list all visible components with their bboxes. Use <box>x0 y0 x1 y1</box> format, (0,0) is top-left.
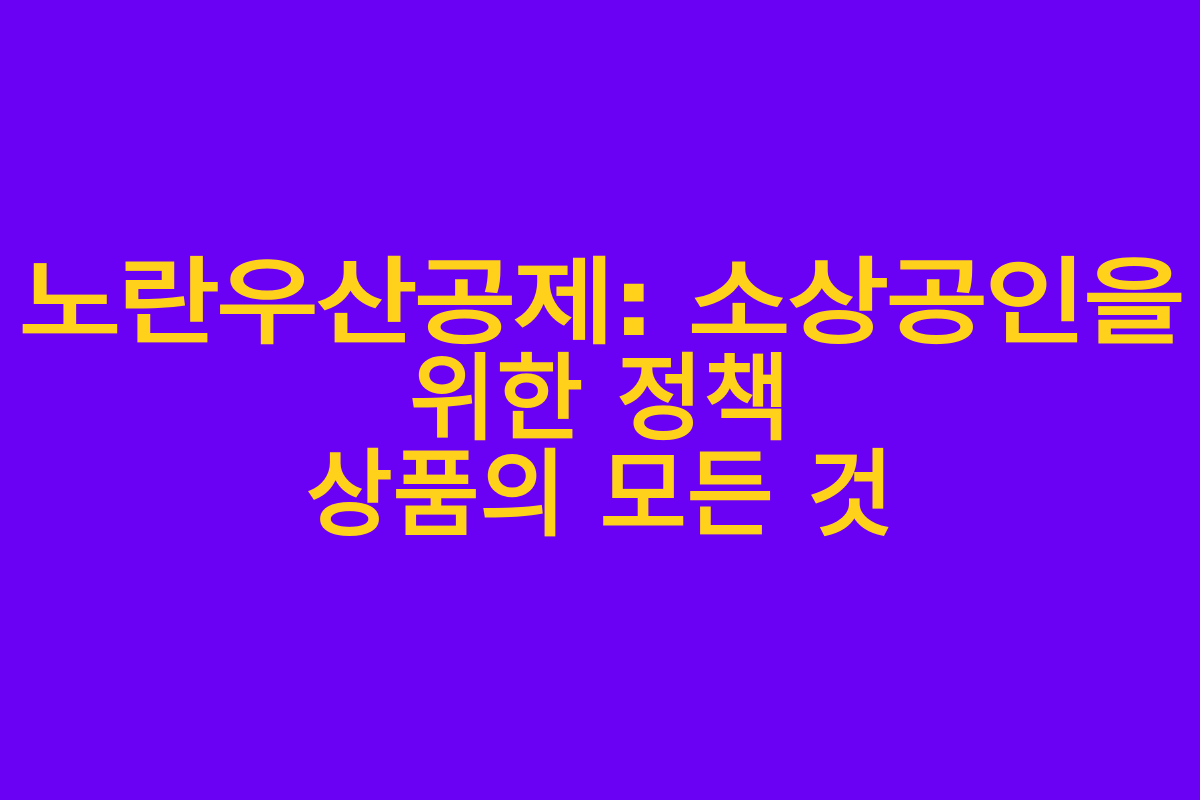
headline-line-2: 위한 정책 <box>410 352 791 448</box>
headline-block: 노란우산공제: 소상공인을 위한 정책 상품의 모든 것 <box>0 256 1200 544</box>
headline-line-1: 노란우산공제: 소상공인을 <box>18 256 1181 352</box>
headline-line-3: 상품의 모든 것 <box>306 448 894 544</box>
thumbnail-canvas: 노란우산공제: 소상공인을 위한 정책 상품의 모든 것 <box>0 0 1200 800</box>
